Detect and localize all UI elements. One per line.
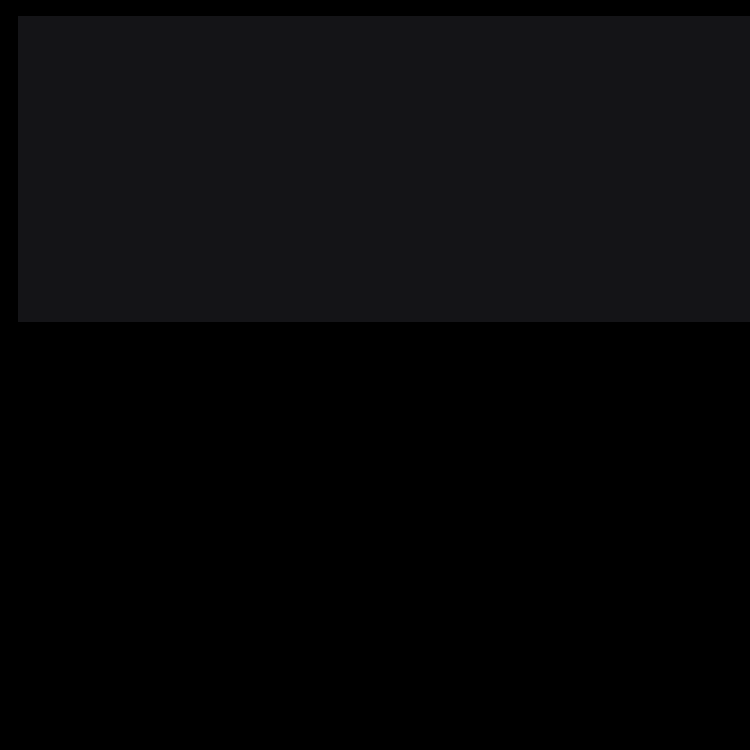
header-panel xyxy=(18,16,750,322)
feature-icon-grid xyxy=(0,352,750,736)
product-feature-page xyxy=(0,0,750,750)
